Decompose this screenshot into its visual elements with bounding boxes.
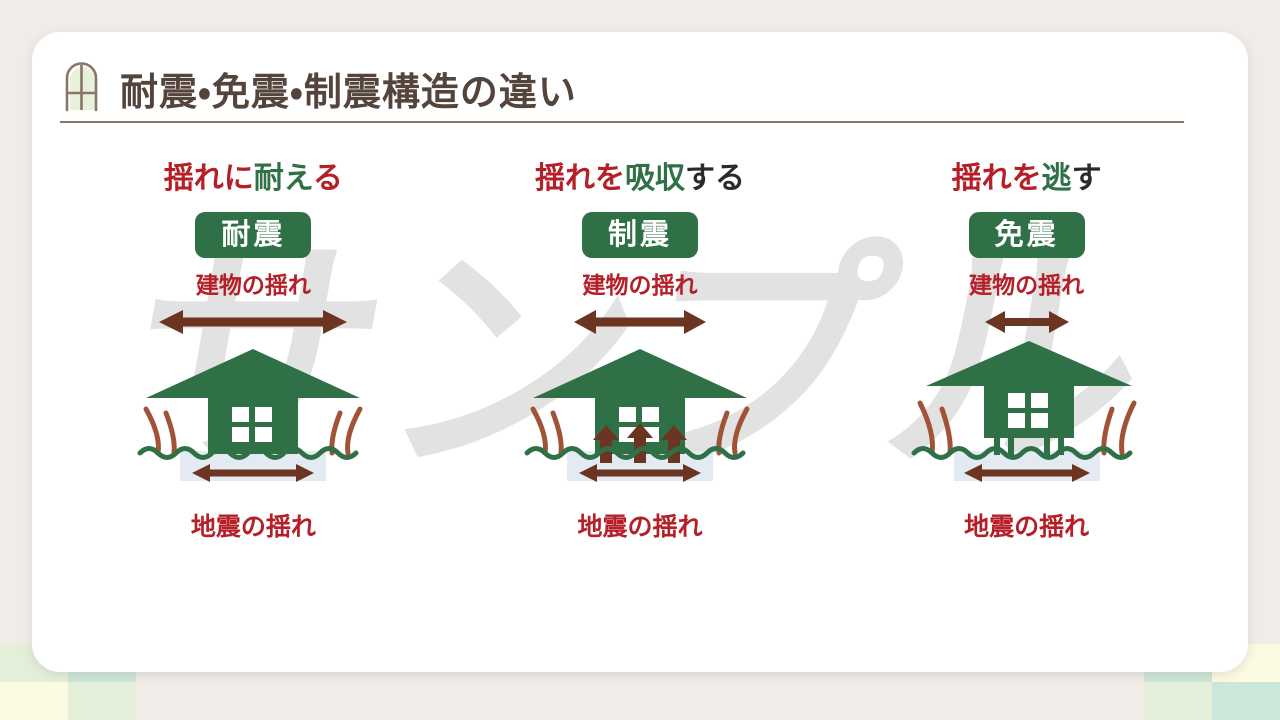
- ground-shake-label: 地震の揺れ: [191, 514, 316, 539]
- ground-shake-label: 地震の揺れ: [964, 514, 1089, 539]
- column-menshin: 揺れを逃す 免震 建物の揺れ: [833, 152, 1220, 652]
- decor-square: [1212, 682, 1280, 720]
- heading-part: 逃: [1042, 161, 1072, 196]
- column-heading: 揺れに耐える: [164, 164, 343, 194]
- building-shake-label: 建物の揺れ: [969, 275, 1084, 298]
- page-title: 耐震・免震・制震構造の違い: [120, 73, 577, 113]
- building-shake-arrow: [982, 309, 1072, 335]
- heading-part: する: [685, 161, 745, 196]
- house-illustration-taishin: [128, 341, 378, 505]
- heading-part: す: [1072, 161, 1102, 196]
- building-shake-label: 建物の揺れ: [583, 275, 698, 298]
- heading-part: 耐え: [254, 161, 313, 196]
- column-heading: 揺れを逃す: [952, 164, 1102, 194]
- column-seishin: 揺れを吸収する 制震 建物の揺れ: [447, 152, 834, 652]
- column-taishin: 揺れに耐える 耐震 建物の揺れ: [60, 152, 447, 652]
- heading-part: 揺れを: [952, 161, 1042, 196]
- arched-window-icon: [60, 60, 106, 112]
- structure-badge: 免震: [969, 212, 1085, 258]
- building-shake-arrow: [570, 309, 710, 335]
- decor-square: [1144, 682, 1212, 720]
- heading-part: 吸収: [625, 161, 685, 196]
- structure-badge: 制震: [582, 212, 698, 258]
- slide-header: 耐震・免震・制震構造の違い: [60, 60, 1184, 123]
- comparison-columns: 揺れに耐える 耐震 建物の揺れ: [60, 152, 1220, 652]
- structure-badge: 耐震: [195, 212, 311, 258]
- column-heading: 揺れを吸収する: [535, 164, 745, 194]
- house-illustration-menshin: [902, 341, 1152, 505]
- building-shake-label: 建物の揺れ: [196, 275, 311, 298]
- heading-part: 揺れを: [535, 161, 625, 196]
- heading-part: 揺れに: [164, 161, 254, 196]
- house-illustration-seishin: [515, 341, 765, 505]
- damper-arrow: [593, 423, 687, 463]
- ground-shake-label: 地震の揺れ: [578, 514, 703, 539]
- building-shake-arrow: [153, 309, 353, 335]
- heading-part: る: [313, 161, 343, 196]
- slide-card: サンプル 耐震・免震・制震構造の違い 揺れに耐える 耐震 建物の揺れ: [32, 32, 1248, 672]
- decor-square: [0, 682, 68, 720]
- decor-square: [68, 682, 136, 720]
